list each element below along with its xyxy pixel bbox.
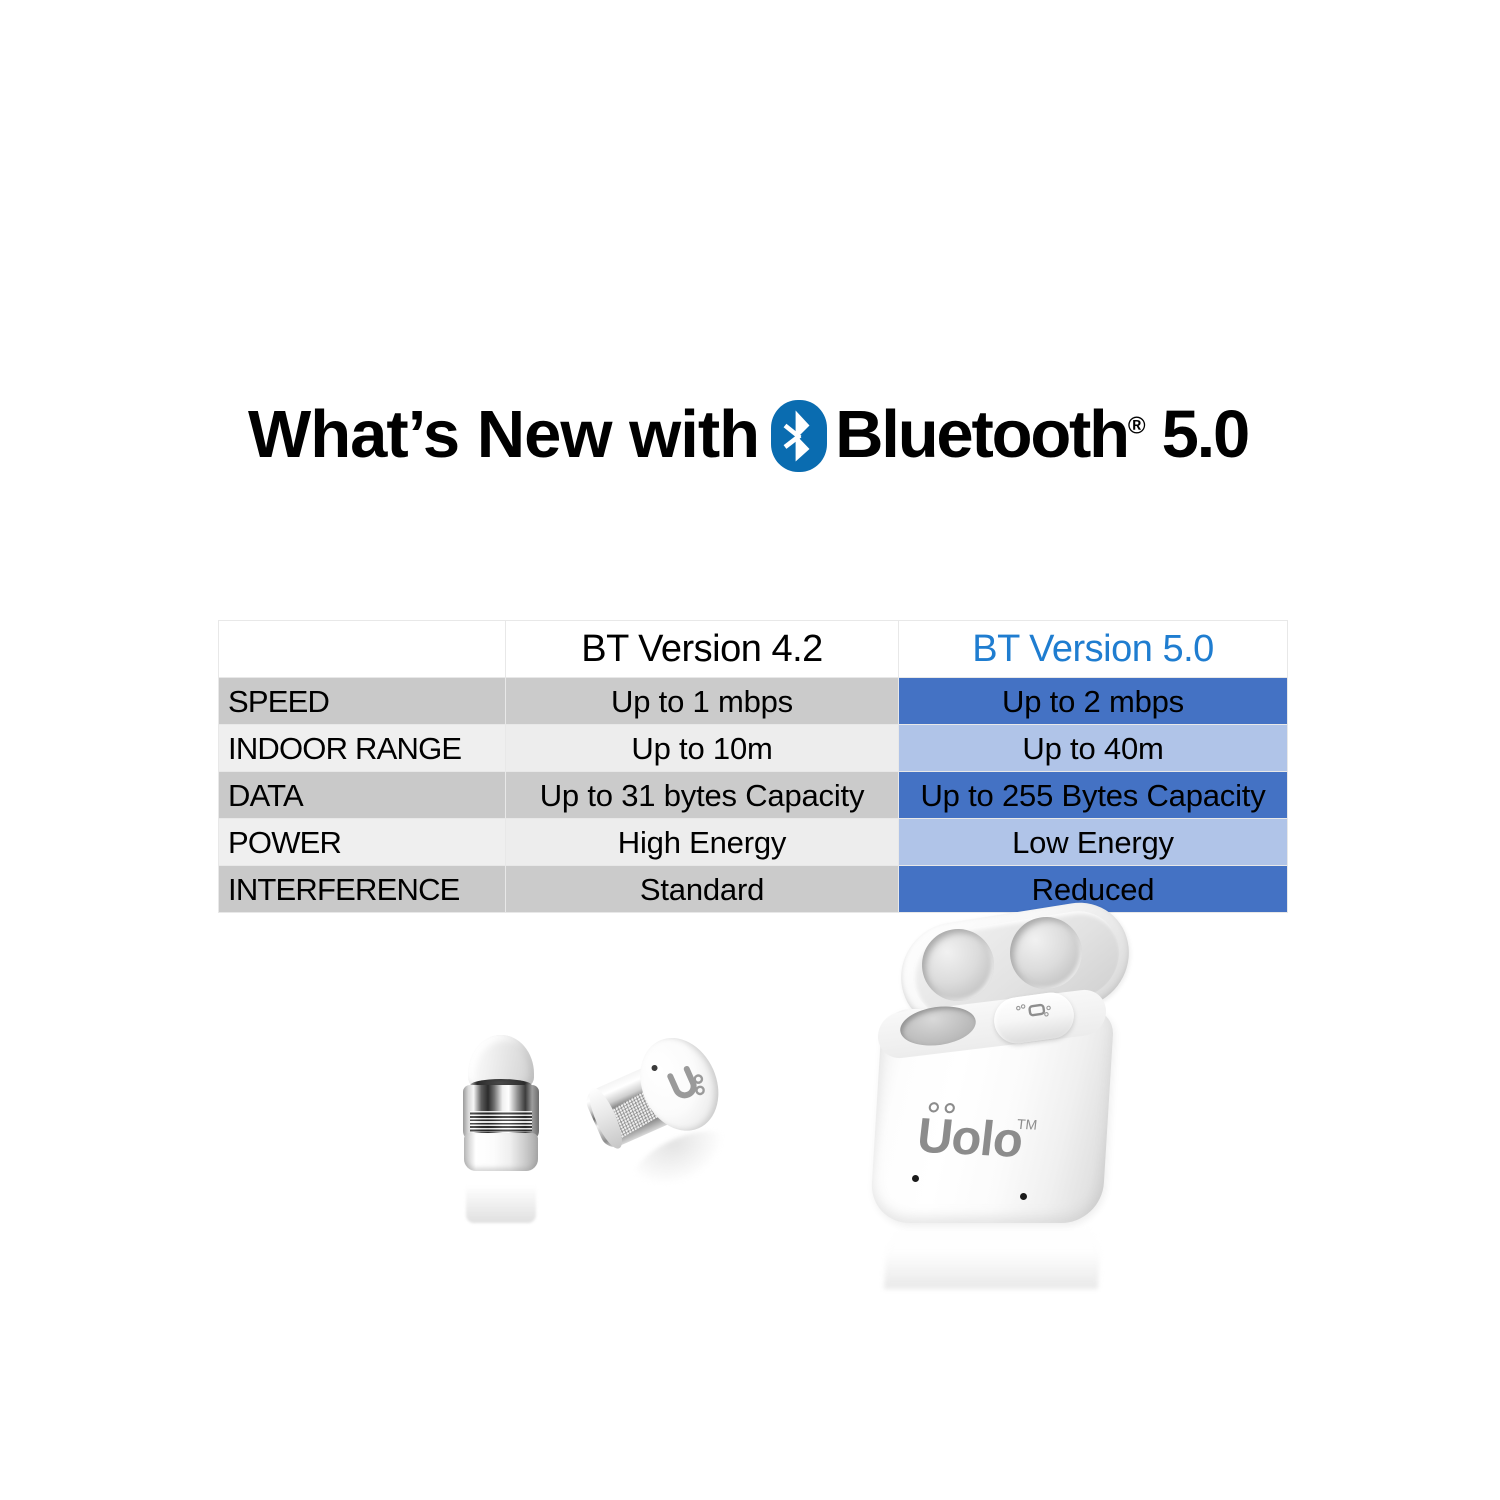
svg-text:Uolo: Uolo [915, 1109, 1025, 1167]
row-label-speed: SPEED [219, 678, 506, 725]
charging-case-port-left [912, 1175, 919, 1182]
bluetooth-icon [771, 400, 827, 472]
title-text-prefix: What’s New with [248, 396, 759, 473]
cell-bt42-power: High Energy [506, 819, 899, 866]
bluetooth-comparison-table: BT Version 4.2 BT Version 5.0 SPEED Up t… [218, 620, 1288, 913]
charging-case-image: Uolo TM [860, 913, 1150, 1253]
cell-bt50-data: Up to 255 Bytes Capacity [899, 772, 1288, 819]
charging-case-brand-logo: Uolo TM [915, 1100, 1051, 1167]
table-header-row: BT Version 4.2 BT Version 5.0 [219, 621, 1288, 678]
row-label-indoor-range: INDOOR RANGE [219, 725, 506, 772]
charging-case-port-right [1020, 1193, 1027, 1200]
row-label-power: POWER [219, 819, 506, 866]
earbud-upright-image [460, 1035, 542, 1170]
table-row: POWER High Energy Low Energy [219, 819, 1288, 866]
title-text-brand: Bluetooth®5.0 [835, 396, 1248, 473]
product-photo-group: Uolo TM [420, 905, 1200, 1285]
column-header-bt50: BT Version 5.0 [899, 621, 1288, 678]
svg-text:TM: TM [1016, 1116, 1038, 1133]
brand-word: Bluetooth [835, 397, 1128, 472]
title-version: 5.0 [1162, 397, 1249, 472]
cell-bt42-speed: Up to 1 mbps [506, 678, 899, 725]
earbud-tilted-image [573, 1022, 741, 1185]
table-row: INDOOR RANGE Up to 10m Up to 40m [219, 725, 1288, 772]
earbud-ribbed-band [470, 1111, 532, 1132]
registered-mark: ® [1128, 412, 1146, 439]
table-row: DATA Up to 31 bytes Capacity Up to 255 B… [219, 772, 1288, 819]
cell-bt50-power: Low Energy [899, 819, 1288, 866]
charging-case-reflection [884, 1219, 1102, 1289]
cell-bt50-indoor-range: Up to 40m [899, 725, 1288, 772]
cell-bt50-speed: Up to 2 mbps [899, 678, 1288, 725]
cell-bt42-data: Up to 31 bytes Capacity [506, 772, 899, 819]
earbud-base-ring [464, 1133, 538, 1171]
row-label-data: DATA [219, 772, 506, 819]
page-title: What’s New with Bluetooth®5.0 [248, 392, 1258, 476]
table-row: SPEED Up to 1 mbps Up to 2 mbps [219, 678, 1288, 725]
column-header-bt42: BT Version 4.2 [506, 621, 899, 678]
earbud-reflection [466, 1171, 536, 1223]
table-corner-cell [219, 621, 506, 678]
cell-bt42-indoor-range: Up to 10m [506, 725, 899, 772]
